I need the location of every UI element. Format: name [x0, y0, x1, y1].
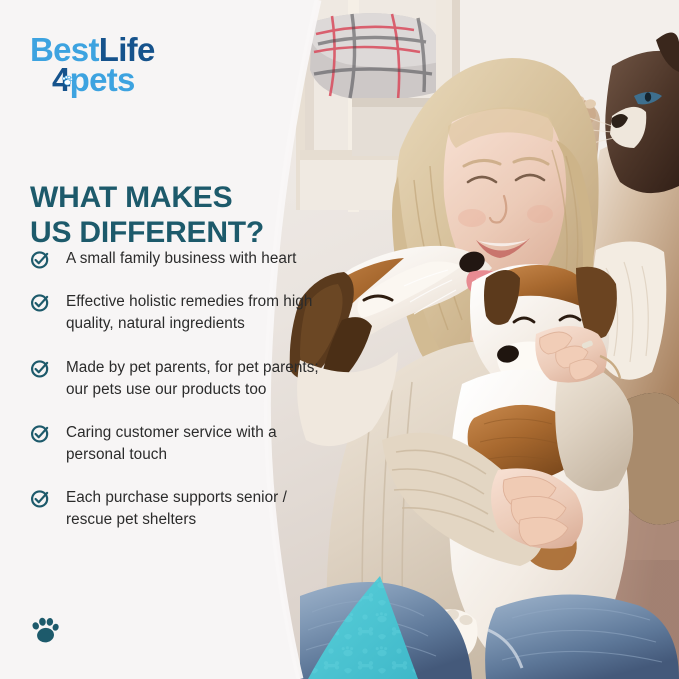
list-item: Effective holistic remedies from high qu… [30, 291, 320, 335]
paw-print-icon [61, 74, 74, 87]
list-item-label: Effective holistic remedies from high qu… [66, 291, 312, 335]
list-item-label: Caring customer service with a personal … [66, 422, 277, 466]
list-item: A small family business with heart [30, 248, 320, 270]
plaid-blanket [310, 13, 441, 100]
check-circle-icon [30, 358, 51, 379]
check-circle-icon [30, 488, 51, 509]
list-item-label: Each purchase supports senior / rescue p… [66, 487, 287, 531]
infographic-card: BestLife 4pets What Makes Us Different? [0, 0, 679, 679]
paw-print-icon [28, 613, 61, 646]
benefits-list: A small family business with heart Effec… [30, 248, 320, 532]
logo-line-2: 4pets [52, 65, 155, 94]
list-item: Each purchase supports senior / rescue p… [30, 487, 320, 531]
check-circle-icon [30, 292, 51, 313]
check-circle-icon [30, 423, 51, 444]
page-title-line-1: What Makes [30, 180, 300, 215]
list-item-label: Made by pet parents, for pet parents; ou… [66, 357, 319, 401]
logo-line-1: BestLife [30, 35, 155, 64]
brand-logo[interactable]: BestLife 4pets [30, 35, 155, 94]
list-item-label: A small family business with heart [66, 248, 296, 270]
check-circle-icon [30, 249, 51, 270]
list-item: Made by pet parents, for pet parents; ou… [30, 357, 320, 401]
list-item: Caring customer service with a personal … [30, 422, 320, 466]
page-title: What Makes Us Different? [30, 180, 300, 250]
logo-text-pets: pets [70, 61, 135, 98]
page-title-line-2: Us Different? [30, 215, 300, 250]
